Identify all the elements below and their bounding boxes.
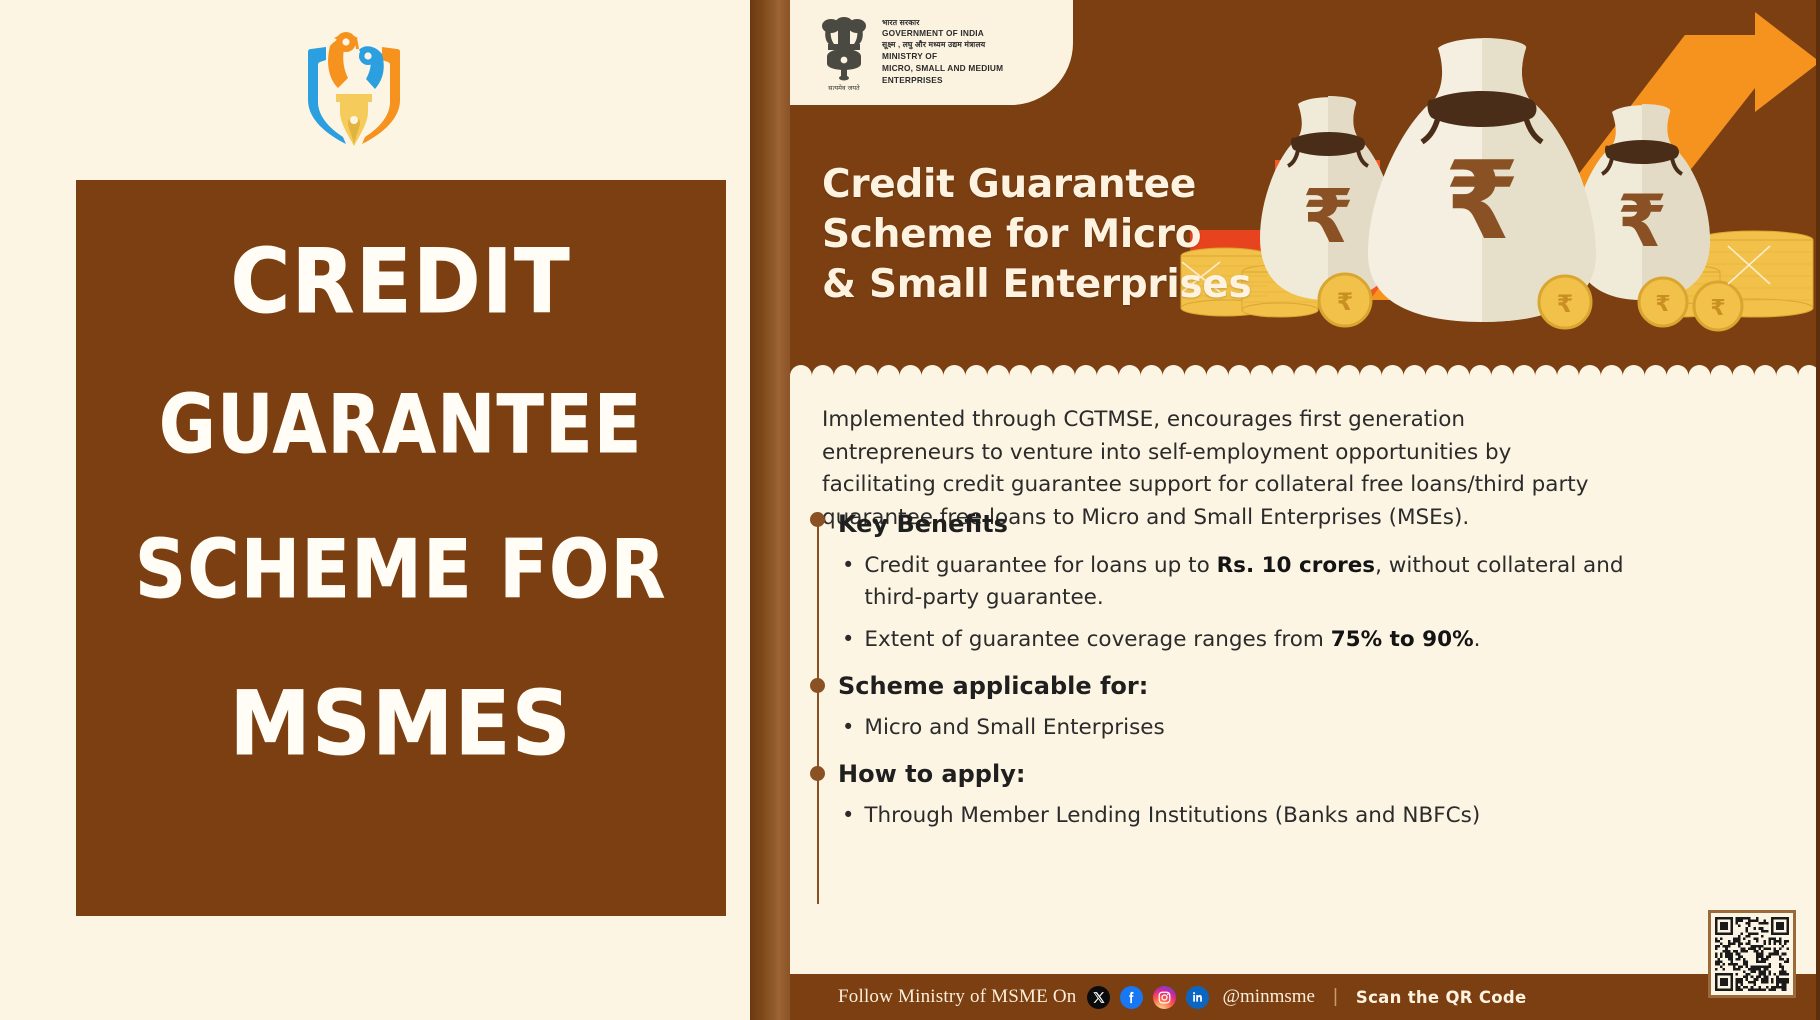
- poster-page: CREDIT GUARANTEE SCHEME FOR MSMES: [0, 0, 1820, 1020]
- svg-text:सत्यमेव जयते: सत्यमेव जयते: [828, 84, 860, 92]
- left-panel: CREDIT GUARANTEE SCHEME FOR MSMES: [0, 0, 750, 1020]
- bullet-text: Micro and Small Enterprises: [864, 712, 1632, 744]
- india-national-emblem-icon: सत्यमेव जयते: [814, 8, 874, 96]
- poster-header: ₹ ₹ ₹: [790, 0, 1820, 385]
- bullet-scheme-applicable-1: • Micro and Small Enterprises: [842, 712, 1632, 744]
- bullet-bold: Rs. 10 crores: [1217, 553, 1376, 578]
- facebook-icon[interactable]: [1120, 986, 1143, 1009]
- poster-title-line-2: Scheme for Micro: [822, 210, 1251, 260]
- timeline-dot-2: [810, 678, 825, 693]
- bullet-marker-icon: •: [842, 550, 854, 615]
- bullet-how-to-apply-1: • Through Member Lending Institutions (B…: [842, 800, 1632, 832]
- bullet-marker-icon: •: [842, 800, 854, 832]
- linkedin-icon[interactable]: [1186, 986, 1209, 1009]
- poster-title-line-3: & Small Enterprises: [822, 260, 1251, 310]
- svg-text:₹: ₹: [1655, 292, 1670, 317]
- instagram-icon[interactable]: [1153, 986, 1176, 1009]
- section-heading-key-benefits: Key Benefits: [838, 510, 1008, 538]
- section-heading-scheme-applicable: Scheme applicable for:: [838, 672, 1148, 700]
- section-heading-how-to-apply: How to apply:: [838, 760, 1025, 788]
- scheme-poster: ₹ ₹ ₹: [790, 0, 1820, 1020]
- poster-title: Credit GuaranteeScheme for Micro& Small …: [822, 160, 1251, 310]
- title-line-4: MSMES: [102, 680, 700, 768]
- svg-text:₹: ₹: [1337, 288, 1354, 316]
- title-line-3: SCHEME FOR: [115, 530, 687, 610]
- emblem-line-1: भारत सरकार: [882, 18, 1003, 29]
- msme-shield-pen-logo: [296, 16, 412, 146]
- footer-separator: |: [1333, 986, 1338, 1008]
- timeline-dot-1: [810, 512, 825, 527]
- bullet-pre: Credit guarantee for loans up to: [864, 553, 1216, 578]
- bullet-text: Credit guarantee for loans up to Rs. 10 …: [864, 550, 1632, 615]
- svg-text:₹: ₹: [1557, 290, 1574, 318]
- timeline-rail: [817, 518, 819, 904]
- vertical-divider-strip: [750, 0, 790, 1020]
- scan-qr-label: Scan the QR Code: [1356, 988, 1527, 1007]
- bullet-text: Through Member Lending Institutions (Ban…: [864, 800, 1632, 832]
- title-card: CREDIT GUARANTEE SCHEME FOR MSMES: [76, 180, 726, 916]
- poster-title-line-1: Credit Guarantee: [822, 160, 1251, 210]
- timeline-dot-3: [810, 766, 825, 781]
- follow-label: Follow Ministry of MSME On: [838, 986, 1077, 1008]
- emblem-line-5: MICRO, SMALL AND MEDIUM: [882, 63, 1003, 75]
- bullet-marker-icon: •: [842, 712, 854, 744]
- section-timeline: [815, 512, 821, 904]
- government-emblem-plate: सत्यमेव जयते भारत सरकार GOVERNMENT OF IN…: [790, 0, 1073, 105]
- bullet-text: Extent of guarantee coverage ranges from…: [864, 624, 1632, 656]
- bullet-key-benefit-1: • Credit guarantee for loans up to Rs. 1…: [842, 550, 1632, 615]
- svg-text:₹: ₹: [1302, 174, 1354, 260]
- emblem-line-2: GOVERNMENT OF INDIA: [882, 28, 1003, 40]
- emblem-line-3: सूक्ष्म , लघु और मध्यम उद्यम मंत्रालय: [882, 40, 1003, 51]
- bullet-post: .: [1474, 627, 1481, 652]
- svg-text:₹: ₹: [1444, 139, 1519, 264]
- scalloped-divider: [790, 355, 1820, 385]
- title-line-2: GUARANTEE: [122, 385, 681, 465]
- bullet-marker-icon: •: [842, 624, 854, 656]
- emblem-line-4: MINISTRY OF: [882, 51, 1003, 63]
- bullet-key-benefit-2: • Extent of guarantee coverage ranges fr…: [842, 624, 1632, 656]
- money-bags-rupee-growth-arrow-illustration: ₹ ₹ ₹: [1180, 0, 1820, 340]
- svg-text:₹: ₹: [1617, 179, 1667, 263]
- bullet-bold: 75% to 90%: [1331, 627, 1474, 652]
- emblem-line-6: ENTERPRISES: [882, 75, 1003, 87]
- poster-footer: Follow Ministry of MSME On @minmsme | Sc…: [790, 974, 1820, 1020]
- emblem-text-block: भारत सरकार GOVERNMENT OF INDIA सूक्ष्म ,…: [882, 18, 1003, 87]
- title-line-1: CREDIT: [102, 238, 700, 326]
- social-handle[interactable]: @minmsme: [1223, 986, 1315, 1008]
- x-twitter-icon[interactable]: [1087, 986, 1110, 1009]
- bullet-pre: Extent of guarantee coverage ranges from: [864, 627, 1330, 652]
- poster-body: Implemented through CGTMSE, encourages f…: [790, 382, 1820, 974]
- svg-text:₹: ₹: [1710, 296, 1725, 321]
- qr-code-icon[interactable]: [1708, 910, 1796, 998]
